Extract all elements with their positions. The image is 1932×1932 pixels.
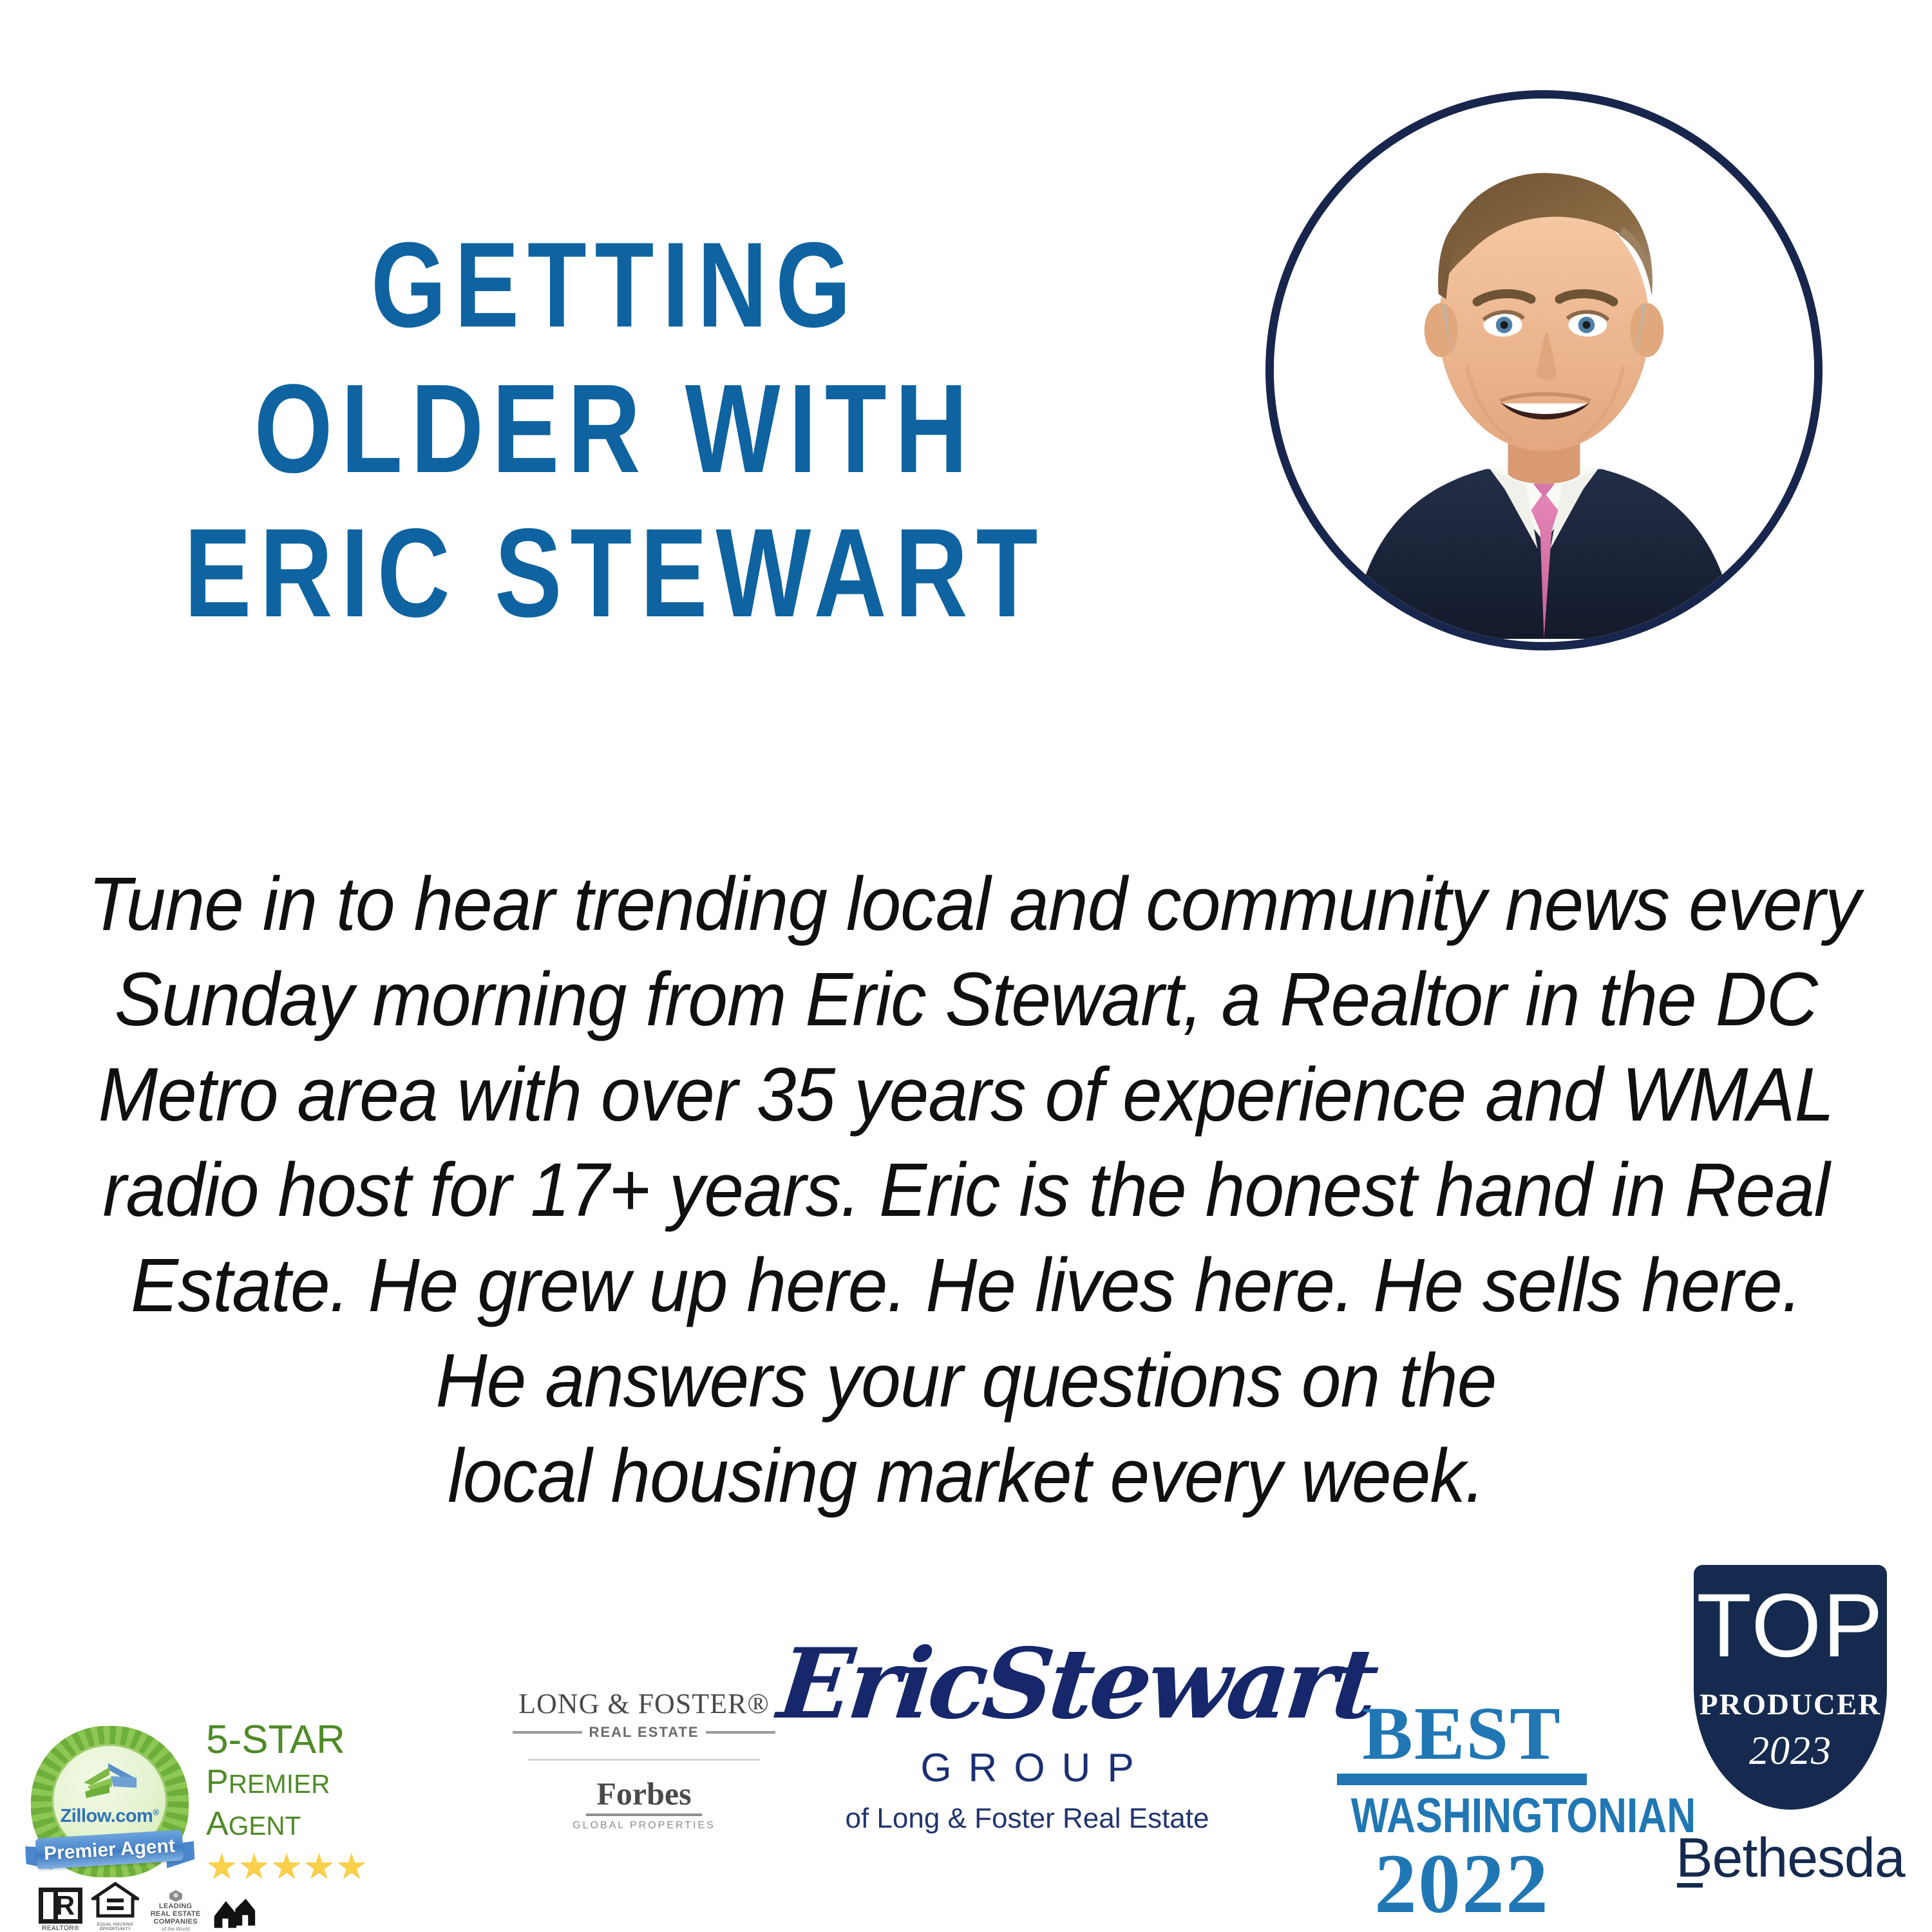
headline-line-1: GETTING (154, 213, 1076, 357)
washingtonian-word: WASHINGTONIAN (1351, 1790, 1573, 1842)
headline-line-3: ERIC STEWART (154, 501, 1076, 645)
long-foster-sub: REAL ESTATE (589, 1724, 699, 1741)
body-line-7: local housing market every week. (88, 1428, 1844, 1524)
header-section: GETTING OLDER WITH ERIC STEWART (0, 0, 1932, 799)
body-line-6: He answers your questions on the (88, 1333, 1844, 1428)
rating-word-star: Star (241, 1718, 345, 1762)
body-line-3: Metro area with over 35 years of experie… (88, 1047, 1844, 1142)
realtor-logo: R REALTOR® (39, 1888, 82, 1932)
equal-housing-caption: EQUAL HOUSING OPPORTUNITY (91, 1923, 139, 1932)
zillow-badge-icon: Zillow.com® Premier Agent (24, 1721, 198, 1882)
realtor-caption: REALTOR® (39, 1926, 82, 1932)
agent-rest: gent (229, 1811, 301, 1841)
promo-graphic: GETTING OLDER WITH ERIC STEWART (0, 0, 1932, 1932)
realtor-letter: R (55, 1893, 75, 1918)
equal-housing-icon (91, 1882, 139, 1918)
rule-right (706, 1731, 775, 1734)
forbes-sub: GLOBAL PROPERTIES (509, 1820, 779, 1832)
registered-mark: ® (153, 1807, 158, 1817)
leading-line-3: COMPANIES (148, 1918, 203, 1926)
forbes-wordmark: Forbes (509, 1775, 779, 1812)
agent-cap: A (206, 1805, 229, 1842)
page-title: GETTING OLDER WITH ERIC STEWART (154, 213, 1076, 645)
washingtonian-year: 2022 (1327, 1844, 1597, 1923)
leading-line-1: LEADING (148, 1902, 203, 1910)
eric-stewart-script: EricStewart (773, 1629, 1281, 1739)
leading-line-2: REAL ESTATE (148, 1910, 203, 1918)
zillow-premier-agent-block: Zillow.com® Premier Agent 5-Star Premier… (13, 1674, 438, 1932)
leading-crest-icon (164, 1889, 187, 1902)
body-line-2: Sunday morning from Eric Stewart, a Real… (88, 952, 1844, 1047)
headline-line-2: OLDER WITH (154, 357, 1076, 501)
top-producer-badge: TOP PRODUCER 2023 Bethesda (1655, 1565, 1926, 1890)
rating-line-1: 5-Star (206, 1718, 431, 1762)
realtor-icon: R (39, 1888, 82, 1924)
best-word: BEST (1327, 1700, 1597, 1767)
arrows-house-icon (212, 1895, 258, 1932)
premier-agent-ribbon: Premier Agent (26, 1830, 194, 1870)
bethesda-wordmark: Bethesda (1676, 1826, 1904, 1890)
best-washingtonian-badge: BEST WASHINGTONIAN 2022 (1327, 1700, 1597, 1923)
body-line-5: Estate. He grew up here. He lives here. … (88, 1238, 1844, 1333)
avatar (1265, 90, 1823, 650)
long-foster-name: LONG & FOSTER® (509, 1687, 779, 1720)
long-foster-logo: LONG & FOSTER® REAL ESTATE Forbes GLOBAL… (509, 1687, 779, 1832)
equal-housing-logo: EQUAL HOUSING OPPORTUNITY (91, 1882, 139, 1932)
footer-logo-bar: Zillow.com® Premier Agent 5-Star Premier… (0, 1558, 1932, 1932)
zillow-wordmark: Zillow.com® (53, 1806, 166, 1827)
leading-sub: of the World (148, 1926, 203, 1932)
zillow-brand-text: Zillow.com (61, 1806, 153, 1826)
long-foster-divider (528, 1759, 760, 1761)
eric-stewart-group-logo: EricStewart GROUP of Long & Foster Real … (779, 1629, 1275, 1835)
body-line-4: radio host for 17+ years. Eric is the ho… (88, 1142, 1844, 1238)
premier-rest: remier (229, 1769, 330, 1799)
portrait-illustration (1274, 99, 1814, 639)
compliance-logos-row: R REALTOR® EQUAL HOUSING OPPORTUNITY (39, 1879, 258, 1932)
top-producer-year: 2023 (1694, 1728, 1887, 1774)
producer-word: PRODUCER (1694, 1687, 1887, 1722)
premier-cap: P (206, 1763, 229, 1801)
forbes-rule (586, 1814, 702, 1816)
eric-stewart-group-sub: of Long & Foster Real Estate (779, 1803, 1275, 1835)
zillow-house-icon (81, 1761, 140, 1801)
description-paragraph: Tune in to hear trending local and commu… (88, 857, 1844, 1524)
shield-shape: TOP PRODUCER 2023 (1694, 1565, 1887, 1810)
leading-real-estate-logo: LEADING REAL ESTATE COMPANIES of the Wor… (148, 1889, 203, 1932)
five-star-rating-block: 5-Star Premier Agent ★★★★★ (206, 1718, 431, 1884)
rule-left (513, 1731, 582, 1734)
long-foster-rule-row: REAL ESTATE (509, 1724, 779, 1741)
body-line-1: Tune in to hear trending local and commu… (88, 857, 1844, 952)
group-word: GROUP (779, 1745, 1275, 1791)
rating-lead-5dash: 5- (206, 1718, 241, 1762)
rating-line-2: Premier Agent (206, 1762, 431, 1846)
top-word: TOP (1694, 1580, 1887, 1671)
